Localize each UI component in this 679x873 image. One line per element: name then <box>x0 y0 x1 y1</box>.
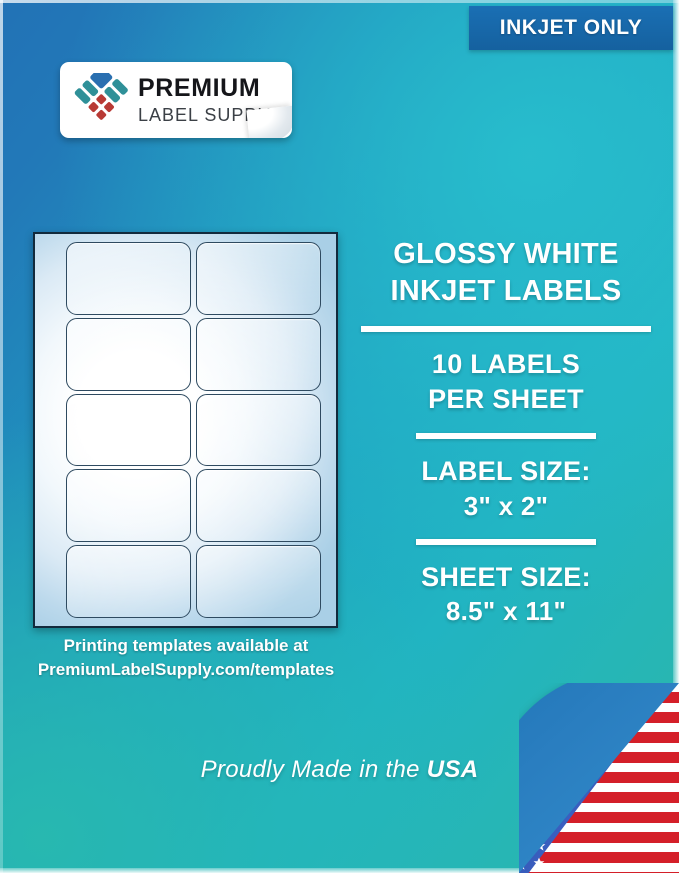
label-size-title: LABEL SIZE: <box>358 454 654 489</box>
label-cell <box>66 394 191 467</box>
product-package-image: INKJET ONLY PREMIUM LABEL SUPPLY <box>0 0 679 873</box>
sheet-size-title: SHEET SIZE: <box>358 560 654 595</box>
label-cell <box>196 394 321 467</box>
template-note-line-1: Printing templates available at <box>10 634 362 658</box>
spec-divider-3 <box>416 539 596 545</box>
tagline-emphasis: USA <box>427 756 479 783</box>
brand-name-primary: PREMIUM <box>138 76 280 101</box>
template-availability-note: Printing templates available at PremiumL… <box>10 634 362 682</box>
label-grid <box>44 242 327 618</box>
label-count-line-1: 10 LABELS <box>358 347 654 382</box>
package-edge-top <box>0 0 679 3</box>
label-size-value: 3" x 2" <box>358 490 654 524</box>
spec-divider-2 <box>416 433 596 439</box>
specifications-column: GLOSSY WHITE INKJET LABELS 10 LABELS PER… <box>358 236 654 629</box>
inkjet-only-badge: INKJET ONLY <box>469 6 673 50</box>
tagline-prefix: Proudly Made in the <box>201 756 427 783</box>
sheet-size-value: 8.5" x 11" <box>358 595 654 629</box>
label-cell <box>196 318 321 391</box>
inkjet-only-badge-label: INKJET ONLY <box>500 16 642 40</box>
sticker-peel-corner-icon <box>246 106 292 138</box>
spec-divider-1 <box>361 326 651 332</box>
diamond-squares-logo-icon <box>74 73 130 127</box>
label-cell <box>196 469 321 542</box>
label-cell <box>66 469 191 542</box>
product-heading-line-2: INKJET LABELS <box>358 273 654 310</box>
usa-flag-corner-curl-icon <box>519 683 679 873</box>
label-sheet-illustration <box>33 232 338 628</box>
label-cell <box>196 242 321 315</box>
label-cell <box>66 318 191 391</box>
product-heading-line-1: GLOSSY WHITE <box>358 236 654 273</box>
brand-logo-card: PREMIUM LABEL SUPPLY <box>60 62 292 138</box>
label-count-line-2: PER SHEET <box>358 382 654 417</box>
label-cell <box>196 545 321 618</box>
template-note-line-2: PremiumLabelSupply.com/templates <box>10 658 362 682</box>
package-edge-left <box>0 0 3 873</box>
label-cell <box>66 545 191 618</box>
label-cell <box>66 242 191 315</box>
